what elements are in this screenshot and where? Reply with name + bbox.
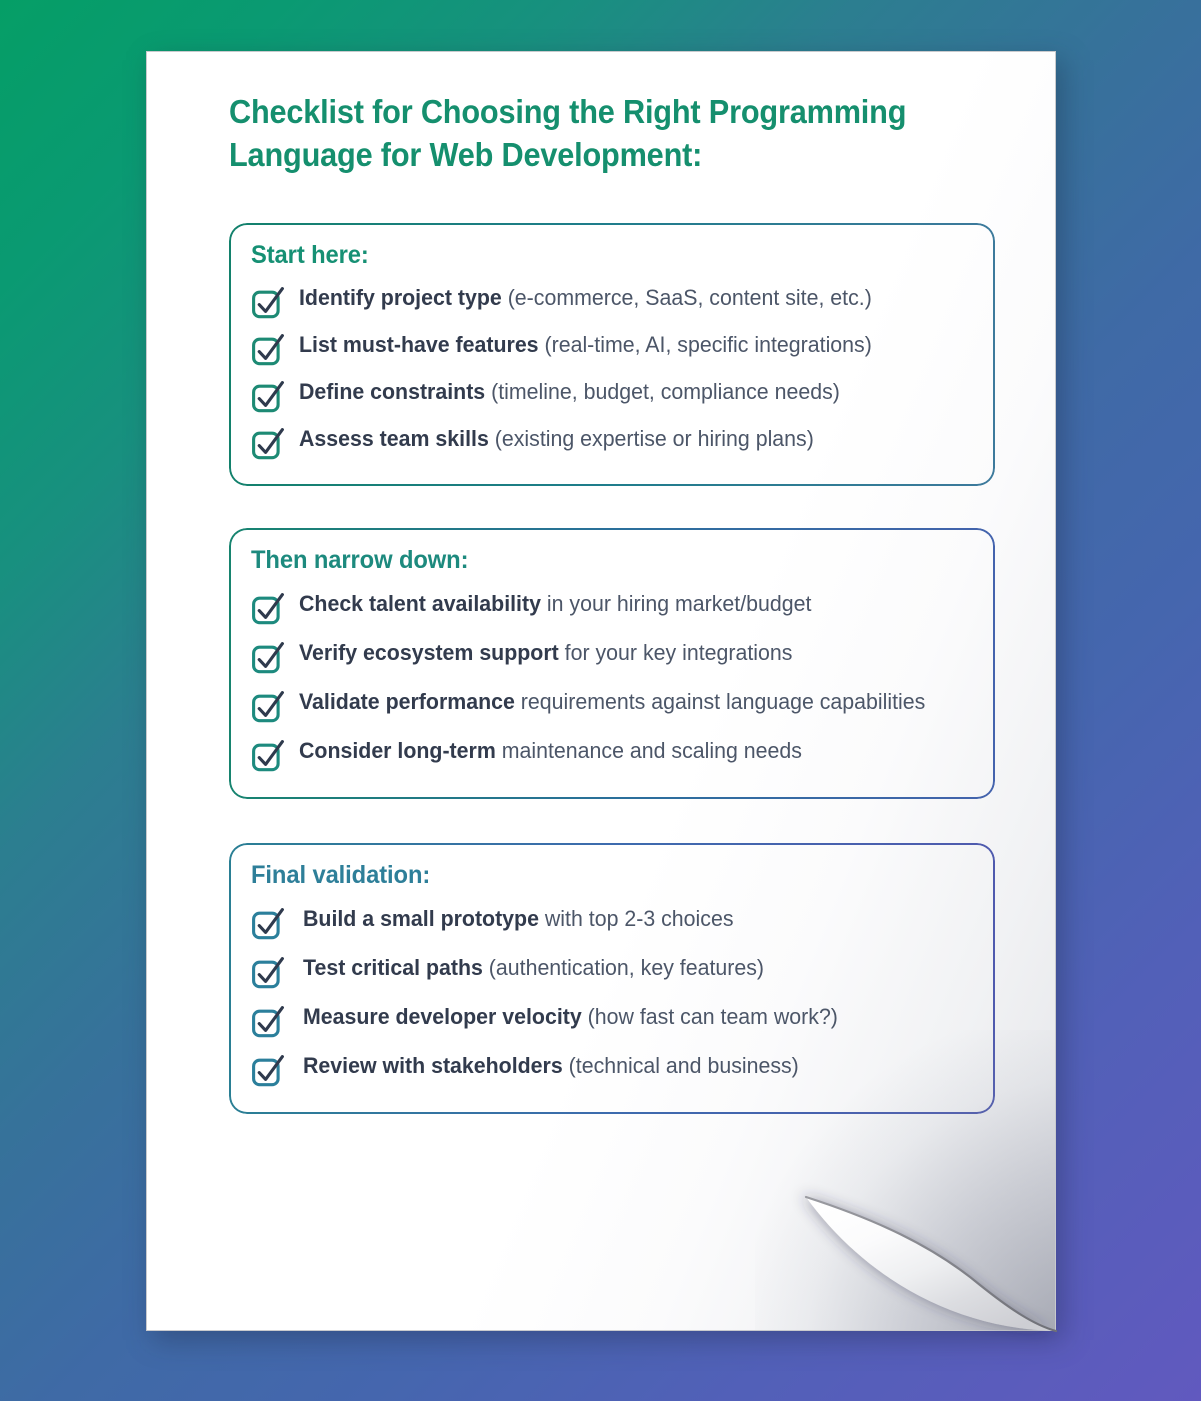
checklist-item-detail: (how fast can team work?)	[582, 1004, 838, 1029]
checklist-item[interactable]: Identify project type (e-commerce, SaaS,…	[251, 278, 973, 325]
checklist-item-lead: Assess team skills	[299, 426, 489, 451]
checkbox-checked-icon[interactable]	[251, 333, 285, 367]
checklist-item-lead: Check talent availability	[299, 591, 541, 616]
checklist-item-text: Check talent availability in your hiring…	[299, 590, 811, 619]
checkbox-checked-icon[interactable]	[251, 641, 285, 675]
checklist-item-detail: for your key integrations	[559, 640, 793, 665]
checklist-group-3: Final validation:Build a small prototype…	[229, 843, 995, 1114]
checklist-item[interactable]: Check talent availability in your hiring…	[251, 583, 973, 632]
checklist-item-text: Build a small prototype with top 2-3 cho…	[303, 905, 733, 934]
checklist-item-lead: Identify project type	[299, 285, 502, 310]
checklist-item-detail: (authentication, key features)	[483, 955, 764, 980]
checkbox-checked-icon[interactable]	[251, 286, 285, 320]
checklist-sections: Start here:Identify project type (e-comm…	[229, 223, 995, 1114]
checklist-group-1: Start here:Identify project type (e-comm…	[229, 223, 995, 486]
checkbox-checked-icon[interactable]	[251, 380, 285, 414]
checklist-item[interactable]: Validate performance requirements agains…	[251, 681, 973, 730]
checklist-item[interactable]: Consider long-term maintenance and scali…	[251, 730, 973, 779]
checklist-item-lead: Define constraints	[299, 379, 485, 404]
checklist-items: Check talent availability in your hiring…	[251, 583, 973, 779]
checklist-item[interactable]: Verify ecosystem support for your key in…	[251, 632, 973, 681]
checklist-item-text: List must-have features (real-time, AI, …	[299, 331, 872, 360]
checklist-item-detail: with top 2-3 choices	[539, 906, 734, 931]
checkbox-checked-icon[interactable]	[251, 1005, 285, 1039]
checklist-item-lead: Verify ecosystem support	[299, 640, 559, 665]
checklist-item[interactable]: Measure developer velocity (how fast can…	[251, 996, 973, 1045]
checklist-content: Checklist for Choosing the Right Program…	[147, 52, 1056, 1114]
checklist-item[interactable]: Review with stakeholders (technical and …	[251, 1045, 973, 1094]
checklist-item-detail: (technical and business)	[563, 1053, 799, 1078]
checklist-item[interactable]: Build a small prototype with top 2-3 cho…	[251, 898, 973, 947]
paper-sheet: Checklist for Choosing the Right Program…	[146, 51, 1056, 1331]
checklist-items: Build a small prototype with top 2-3 cho…	[251, 898, 973, 1094]
checklist-item-lead: List must-have features	[299, 332, 539, 357]
checklist-item-text: Validate performance requirements agains…	[299, 688, 925, 717]
checklist-item-lead: Measure developer velocity	[303, 1004, 582, 1029]
checklist-item-lead: Consider long-term	[299, 738, 496, 763]
checklist-item-text: Assess team skills (existing expertise o…	[299, 425, 814, 454]
checklist-item-detail: (e-commerce, SaaS, content site, etc.)	[502, 285, 872, 310]
paper-surface: Checklist for Choosing the Right Program…	[146, 51, 1056, 1331]
checklist-item-text: Define constraints (timeline, budget, co…	[299, 378, 840, 407]
checklist-group-2: Then narrow down:Check talent availabili…	[229, 528, 995, 799]
checklist-item[interactable]: List must-have features (real-time, AI, …	[251, 325, 973, 372]
checklist-item[interactable]: Test critical paths (authentication, key…	[251, 947, 973, 996]
checklist-items: Identify project type (e-commerce, SaaS,…	[251, 278, 973, 466]
checkbox-checked-icon[interactable]	[251, 907, 285, 941]
checklist-item-lead: Test critical paths	[303, 955, 483, 980]
group-heading: Final validation:	[251, 861, 937, 890]
checklist-item-detail: in your hiring market/budget	[541, 591, 811, 616]
checkbox-checked-icon[interactable]	[251, 592, 285, 626]
checklist-item-text: Test critical paths (authentication, key…	[303, 954, 764, 983]
checkbox-checked-icon[interactable]	[251, 956, 285, 990]
checklist-item-text: Identify project type (e-commerce, SaaS,…	[299, 284, 872, 313]
checkbox-checked-icon[interactable]	[251, 1054, 285, 1088]
checklist-item-lead: Review with stakeholders	[303, 1053, 563, 1078]
checklist-item-detail: (timeline, budget, compliance needs)	[485, 379, 840, 404]
group-heading: Start here:	[251, 241, 937, 270]
checklist-item-text: Consider long-term maintenance and scali…	[299, 737, 802, 766]
checklist-item-lead: Validate performance	[299, 689, 515, 714]
checklist-item-text: Review with stakeholders (technical and …	[303, 1052, 799, 1081]
checklist-item-lead: Build a small prototype	[303, 906, 539, 931]
checkbox-checked-icon[interactable]	[251, 690, 285, 724]
checklist-item[interactable]: Assess team skills (existing expertise o…	[251, 419, 973, 466]
checklist-item-text: Verify ecosystem support for your key in…	[299, 639, 792, 668]
checklist-item-detail: (real-time, AI, specific integrations)	[539, 332, 872, 357]
checklist-item-detail: (existing expertise or hiring plans)	[489, 426, 814, 451]
checklist-item-detail: requirements against language capabiliti…	[515, 689, 925, 714]
checkbox-checked-icon[interactable]	[251, 427, 285, 461]
checklist-item-text: Measure developer velocity (how fast can…	[303, 1003, 838, 1032]
page-title: Checklist for Choosing the Right Program…	[229, 91, 908, 177]
checklist-item-detail: maintenance and scaling needs	[496, 738, 802, 763]
group-heading: Then narrow down:	[251, 546, 937, 575]
checklist-item[interactable]: Define constraints (timeline, budget, co…	[251, 372, 973, 419]
checkbox-checked-icon[interactable]	[251, 739, 285, 773]
